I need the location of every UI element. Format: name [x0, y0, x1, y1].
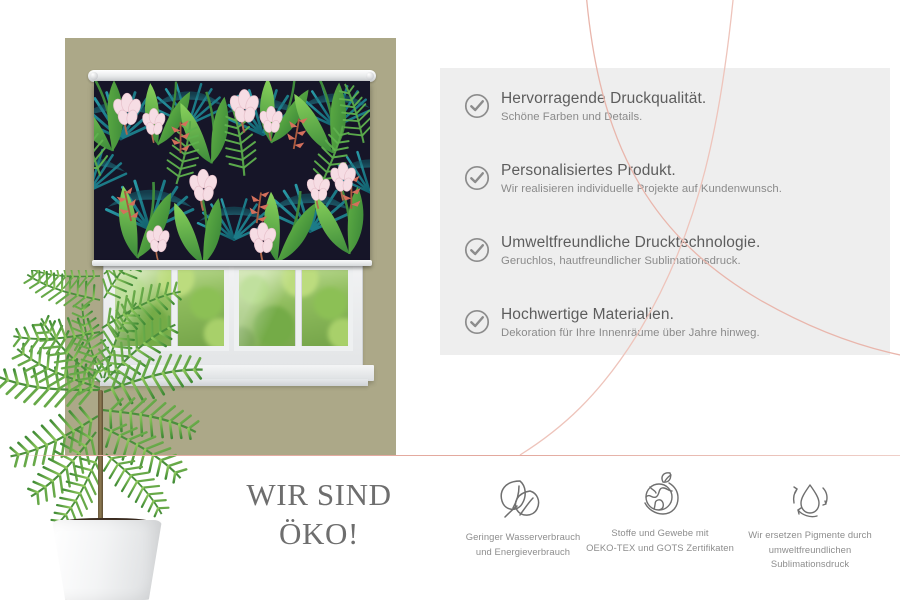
eco-item-pigments: Wir ersetzen Pigmente durchumweltfreundl…: [715, 472, 900, 572]
check-circle-icon: [464, 237, 490, 268]
blind-bottom-rail: [92, 260, 372, 266]
water-drop-recycle-icon: [715, 472, 900, 522]
window-glass: [239, 270, 348, 346]
window-sash-right: [234, 265, 353, 351]
check-circle-icon: [464, 93, 490, 124]
feature-item: Personalisiertes Produkt. Wir realisiere…: [464, 162, 782, 196]
check-circle-icon: [464, 165, 490, 196]
feature-subtitle: Schöne Farben und Details.: [501, 110, 706, 124]
feature-title: Umweltfreundliche Drucktechnologie.: [501, 234, 760, 251]
feature-item: Umweltfreundliche Drucktechnologie. Geru…: [464, 234, 760, 268]
feature-subtitle: Dekoration für Ihre Innenräume über Jahr…: [501, 326, 760, 340]
feature-item: Hochwertige Materialien. Dekoration für …: [464, 306, 760, 340]
eco-caption: Wir ersetzen Pigmente durchumweltfreundl…: [715, 528, 900, 572]
features-panel: Hervorragende Druckqualität. Schöne Farb…: [440, 68, 890, 355]
plant-pot: [52, 520, 162, 600]
feature-item: Hervorragende Druckqualität. Schöne Farb…: [464, 90, 706, 124]
plant-stem: [98, 390, 103, 526]
feature-title: Hervorragende Druckqualität.: [501, 90, 706, 107]
feature-title: Personalisiertes Produkt.: [501, 162, 676, 179]
feature-subtitle: Geruchlos, hautfreundlicher Sublimations…: [501, 254, 760, 268]
eco-heading-line2: ÖKO!: [224, 515, 414, 554]
eco-heading: WIR SIND ÖKO!: [224, 476, 414, 554]
eco-heading-line1: WIR SIND: [224, 476, 414, 515]
feature-title: Hochwertige Materialien.: [501, 306, 674, 323]
blind-fabric: [94, 81, 370, 263]
poster-canvas: Hervorragende Druckqualität. Schöne Farb…: [0, 0, 900, 600]
check-circle-icon: [464, 309, 490, 340]
tropical-pattern-icon: [94, 81, 370, 263]
feature-subtitle: Wir realisieren individuelle Projekte au…: [501, 182, 782, 196]
roller-blind: [88, 70, 376, 266]
horizontal-divider: [15, 455, 900, 456]
potted-plant: [0, 270, 232, 600]
